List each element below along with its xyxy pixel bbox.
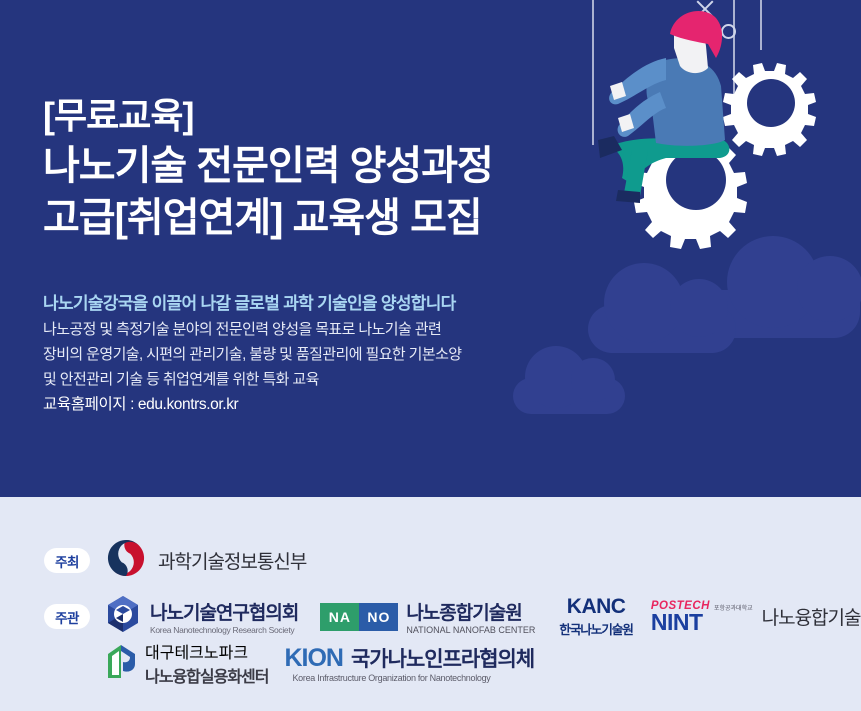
logo-nint-label-ko: 나노융합기술원 xyxy=(762,603,861,630)
organizer-row-1: 주관 나노기술연구협의회 Korea Nanotechnology Resear… xyxy=(44,595,861,638)
hexagon-diamond-icon xyxy=(104,595,142,638)
description-line-3: 및 안전관리 기술 등 취업연계를 위한 특화 교육 xyxy=(43,368,461,393)
logo-dgtp[interactable]: 대구테크노파크 나노융합실용화센터 xyxy=(104,639,268,687)
cloud-decoration-2 xyxy=(588,305,736,353)
logo-nnfc[interactable]: NA NO 나노종합기술원 NATIONAL NANOFAB CENTER xyxy=(320,598,535,635)
logo-knrs-label-ko: 나노기술연구협의회 xyxy=(150,598,298,625)
person-sitting-on-gears-illustration xyxy=(570,0,861,250)
gear-small-icon xyxy=(723,63,816,156)
host-row: 주최 과학기술정보통신부 xyxy=(44,538,306,583)
nint-wordmark: NINT xyxy=(651,612,753,634)
eyebrow-text: [무료교육] xyxy=(43,93,493,140)
logo-nnfc-label-ko: 나노종합기술원 xyxy=(406,598,535,625)
nano-wordmark-right: NO xyxy=(359,603,398,631)
logo-kanc-label-ko: 한국나노기술원 xyxy=(559,619,633,638)
logo-nint[interactable]: POSTECH 포항공과대학교 NINT 나노융합기술원 xyxy=(651,600,861,634)
logo-kion-label-en: Korea Infrastructure Organization for Na… xyxy=(292,673,534,683)
logo-kion-label-ko: 국가나노인프라협의체 xyxy=(351,643,534,673)
postech-label-ko: 포항공과대학교 xyxy=(714,603,753,612)
logo-msit[interactable]: 과학기술정보통신부 xyxy=(106,538,306,583)
description-line-2: 장비의 운영기술, 시편의 관리기술, 불량 및 품질관리에 필요한 기본소양 xyxy=(43,343,461,368)
tp-arrow-icon xyxy=(104,642,138,685)
logo-kanc[interactable]: KANC 한국나노기술원 xyxy=(559,595,633,638)
logo-msit-label: 과학기술정보통신부 xyxy=(158,547,306,574)
logo-kion[interactable]: KION 국가나노인프라협의체 Korea Infrastructure Org… xyxy=(284,643,534,683)
title-line-1: 나노기술 전문인력 양성과정 xyxy=(43,140,493,192)
nint-wordmark-icon: POSTECH 포항공과대학교 NINT xyxy=(651,600,753,634)
logo-dgtp-label-small: 대구테크노파크 xyxy=(145,639,268,663)
partners-section: 주최 과학기술정보통신부 주관 xyxy=(0,497,861,711)
cloud-decoration-3 xyxy=(513,378,625,414)
logo-knrs[interactable]: 나노기술연구협의회 Korea Nanotechnology Research … xyxy=(104,595,298,638)
kion-wordmark-icon: KION xyxy=(284,644,343,673)
taegeuk-emblem-icon xyxy=(106,538,146,583)
hero-banner: [무료교육] 나노기술 전문인력 양성과정 고급[취업연계] 교육생 모집 나노… xyxy=(0,0,861,497)
page-title: [무료교육] 나노기술 전문인력 양성과정 고급[취업연계] 교육생 모집 xyxy=(43,93,493,244)
nano-wordmark-left: NA xyxy=(320,603,359,631)
description-line-1: 나노공정 및 측정기술 분야의 전문인력 양성을 목표로 나노기술 관련 xyxy=(43,318,461,343)
kanc-wordmark-icon: KANC xyxy=(559,595,633,619)
logo-nnfc-label-en: NATIONAL NANOFAB CENTER xyxy=(406,625,535,635)
logo-knrs-label-en: Korea Nanotechnology Research Society xyxy=(150,625,298,635)
title-line-2: 고급[취업연계] 교육생 모집 xyxy=(43,192,493,244)
subtitle-text: 나노기술강국을 이끌어 나갈 글로벌 과학 기술인을 양성합니다 xyxy=(43,289,456,314)
course-homepage-link[interactable]: 교육홈페이지 : edu.kontrs.or.kr xyxy=(43,392,238,414)
logo-dgtp-label-ko: 나노융합실용화센터 xyxy=(145,663,268,687)
organizer-badge: 주관 xyxy=(44,604,90,629)
host-badge: 주최 xyxy=(44,548,90,573)
description-text: 나노공정 및 측정기술 분야의 전문인력 양성을 목표로 나노기술 관련 장비의… xyxy=(43,318,461,393)
organizer-row-2: 대구테크노파크 나노융합실용화센터 KION 국가나노인프라협의체 Korea … xyxy=(104,639,534,687)
nano-wordmark-icon: NA NO xyxy=(320,603,398,631)
